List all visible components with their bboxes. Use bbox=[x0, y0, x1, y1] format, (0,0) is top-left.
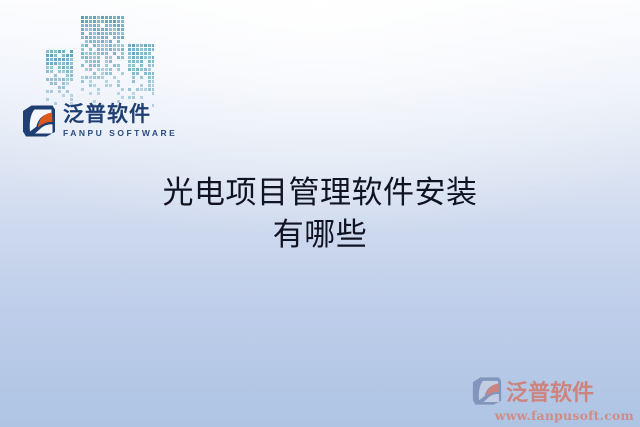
watermark-url: www.fanpusoft.com bbox=[472, 408, 634, 423]
fanpu-watermark-mark-icon bbox=[472, 376, 502, 406]
brand-name-en: FANPU SOFTWARE bbox=[63, 129, 177, 138]
brand-name-cn: 泛普软件 bbox=[63, 104, 177, 125]
fanpu-logo-mark-icon bbox=[22, 104, 56, 138]
watermark-logo-row: 泛普软件 bbox=[472, 375, 634, 407]
page-title-line-2: 有哪些 bbox=[0, 214, 640, 256]
brand-logo-wordmark: 泛普软件 FANPU SOFTWARE bbox=[63, 104, 177, 138]
watermark: 泛普软件 www.fanpusoft.com bbox=[472, 375, 634, 423]
watermark-brand-name: 泛普软件 bbox=[506, 375, 594, 407]
page-title-line-1: 光电项目管理软件安装 bbox=[0, 172, 640, 214]
brand-logo: 泛普软件 FANPU SOFTWARE bbox=[22, 104, 177, 138]
page-title: 光电项目管理软件安装 有哪些 bbox=[0, 172, 640, 256]
slide-canvas: 泛普软件 FANPU SOFTWARE 光电项目管理软件安装 有哪些 泛普软件 … bbox=[0, 0, 640, 427]
pixel-skyline-graphic bbox=[44, 8, 154, 108]
